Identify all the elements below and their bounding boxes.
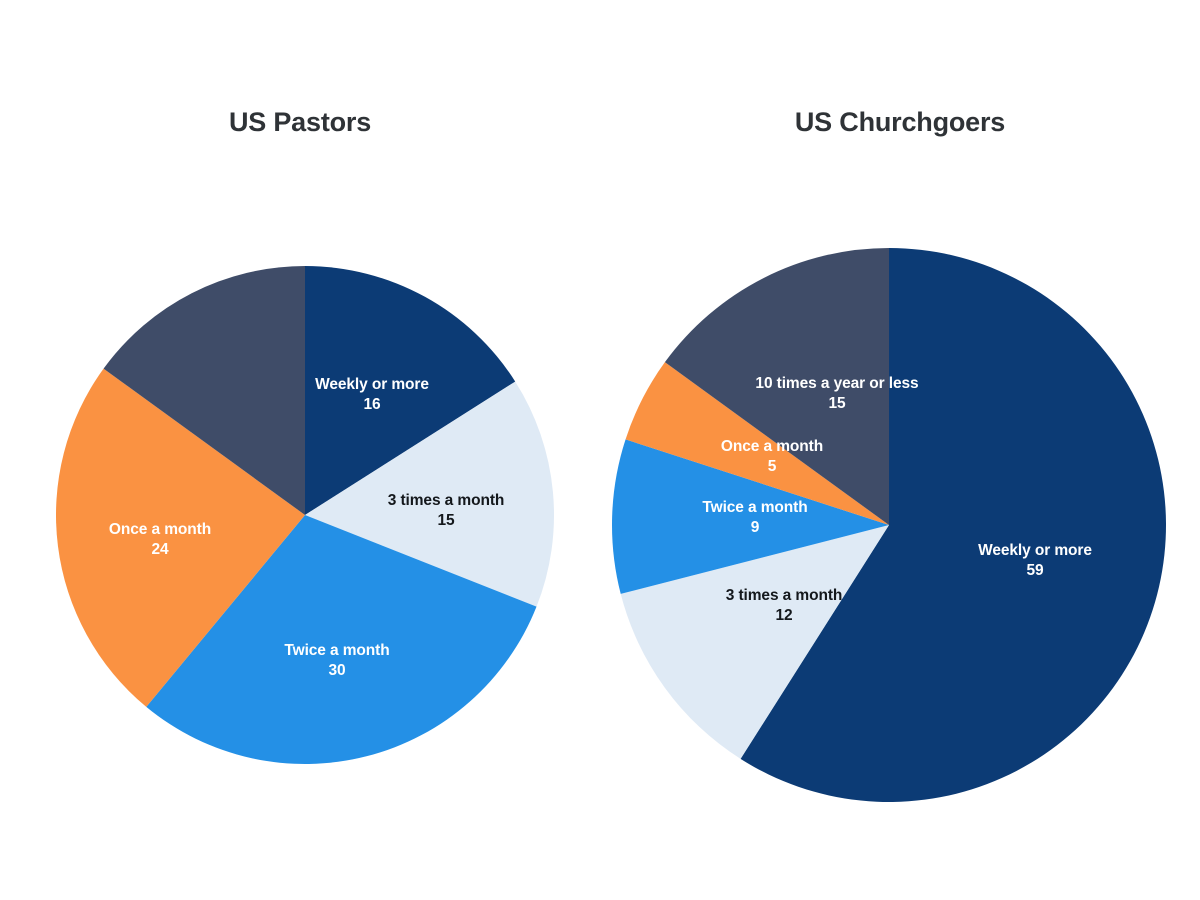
slice-label-name: Weekly or more	[978, 541, 1092, 561]
pie-chart-us-churchgoers	[608, 244, 1170, 806]
slice-label: Once a month5	[721, 437, 823, 477]
slice-label-value: 15	[388, 511, 505, 531]
slice-label: Weekly or more59	[978, 541, 1092, 581]
slice-label-name: Once a month	[721, 437, 823, 457]
slice-label-value: 15	[755, 394, 918, 414]
slice-label-value: 5	[721, 457, 823, 477]
slice-label-value: 59	[978, 561, 1092, 581]
slice-label-value: 30	[284, 661, 389, 681]
slice-label-name: Twice a month	[284, 641, 389, 661]
slice-label-value: 12	[726, 606, 843, 626]
slice-label: Weekly or more16	[315, 375, 429, 415]
slice-label: Twice a month30	[284, 641, 389, 681]
slice-label: 3 times a month12	[726, 586, 843, 626]
page-title-us-pastors: US Pastors	[0, 108, 600, 138]
slice-label-name: 3 times a month	[388, 491, 505, 511]
slice-label-value: 24	[109, 540, 211, 560]
slice-label: Once a month24	[109, 520, 211, 560]
slice-label: Twice a month9	[702, 498, 807, 538]
slice-label: 10 times a year or less15	[755, 374, 918, 414]
slice-label-value: 16	[315, 395, 429, 415]
pie-chart-figure: US Pastors US Churchgoers Weekly or more…	[0, 0, 1200, 900]
slice-label-name: Once a month	[109, 520, 211, 540]
slice-label-value: 9	[702, 518, 807, 538]
slice-label-name: 10 times a year or less	[755, 374, 918, 394]
slice-label-name: 3 times a month	[726, 586, 843, 606]
slice-label-name: Weekly or more	[315, 375, 429, 395]
slice-label-name: Twice a month	[702, 498, 807, 518]
page-title-us-churchgoers: US Churchgoers	[600, 108, 1200, 138]
slice-label: 3 times a month15	[388, 491, 505, 531]
